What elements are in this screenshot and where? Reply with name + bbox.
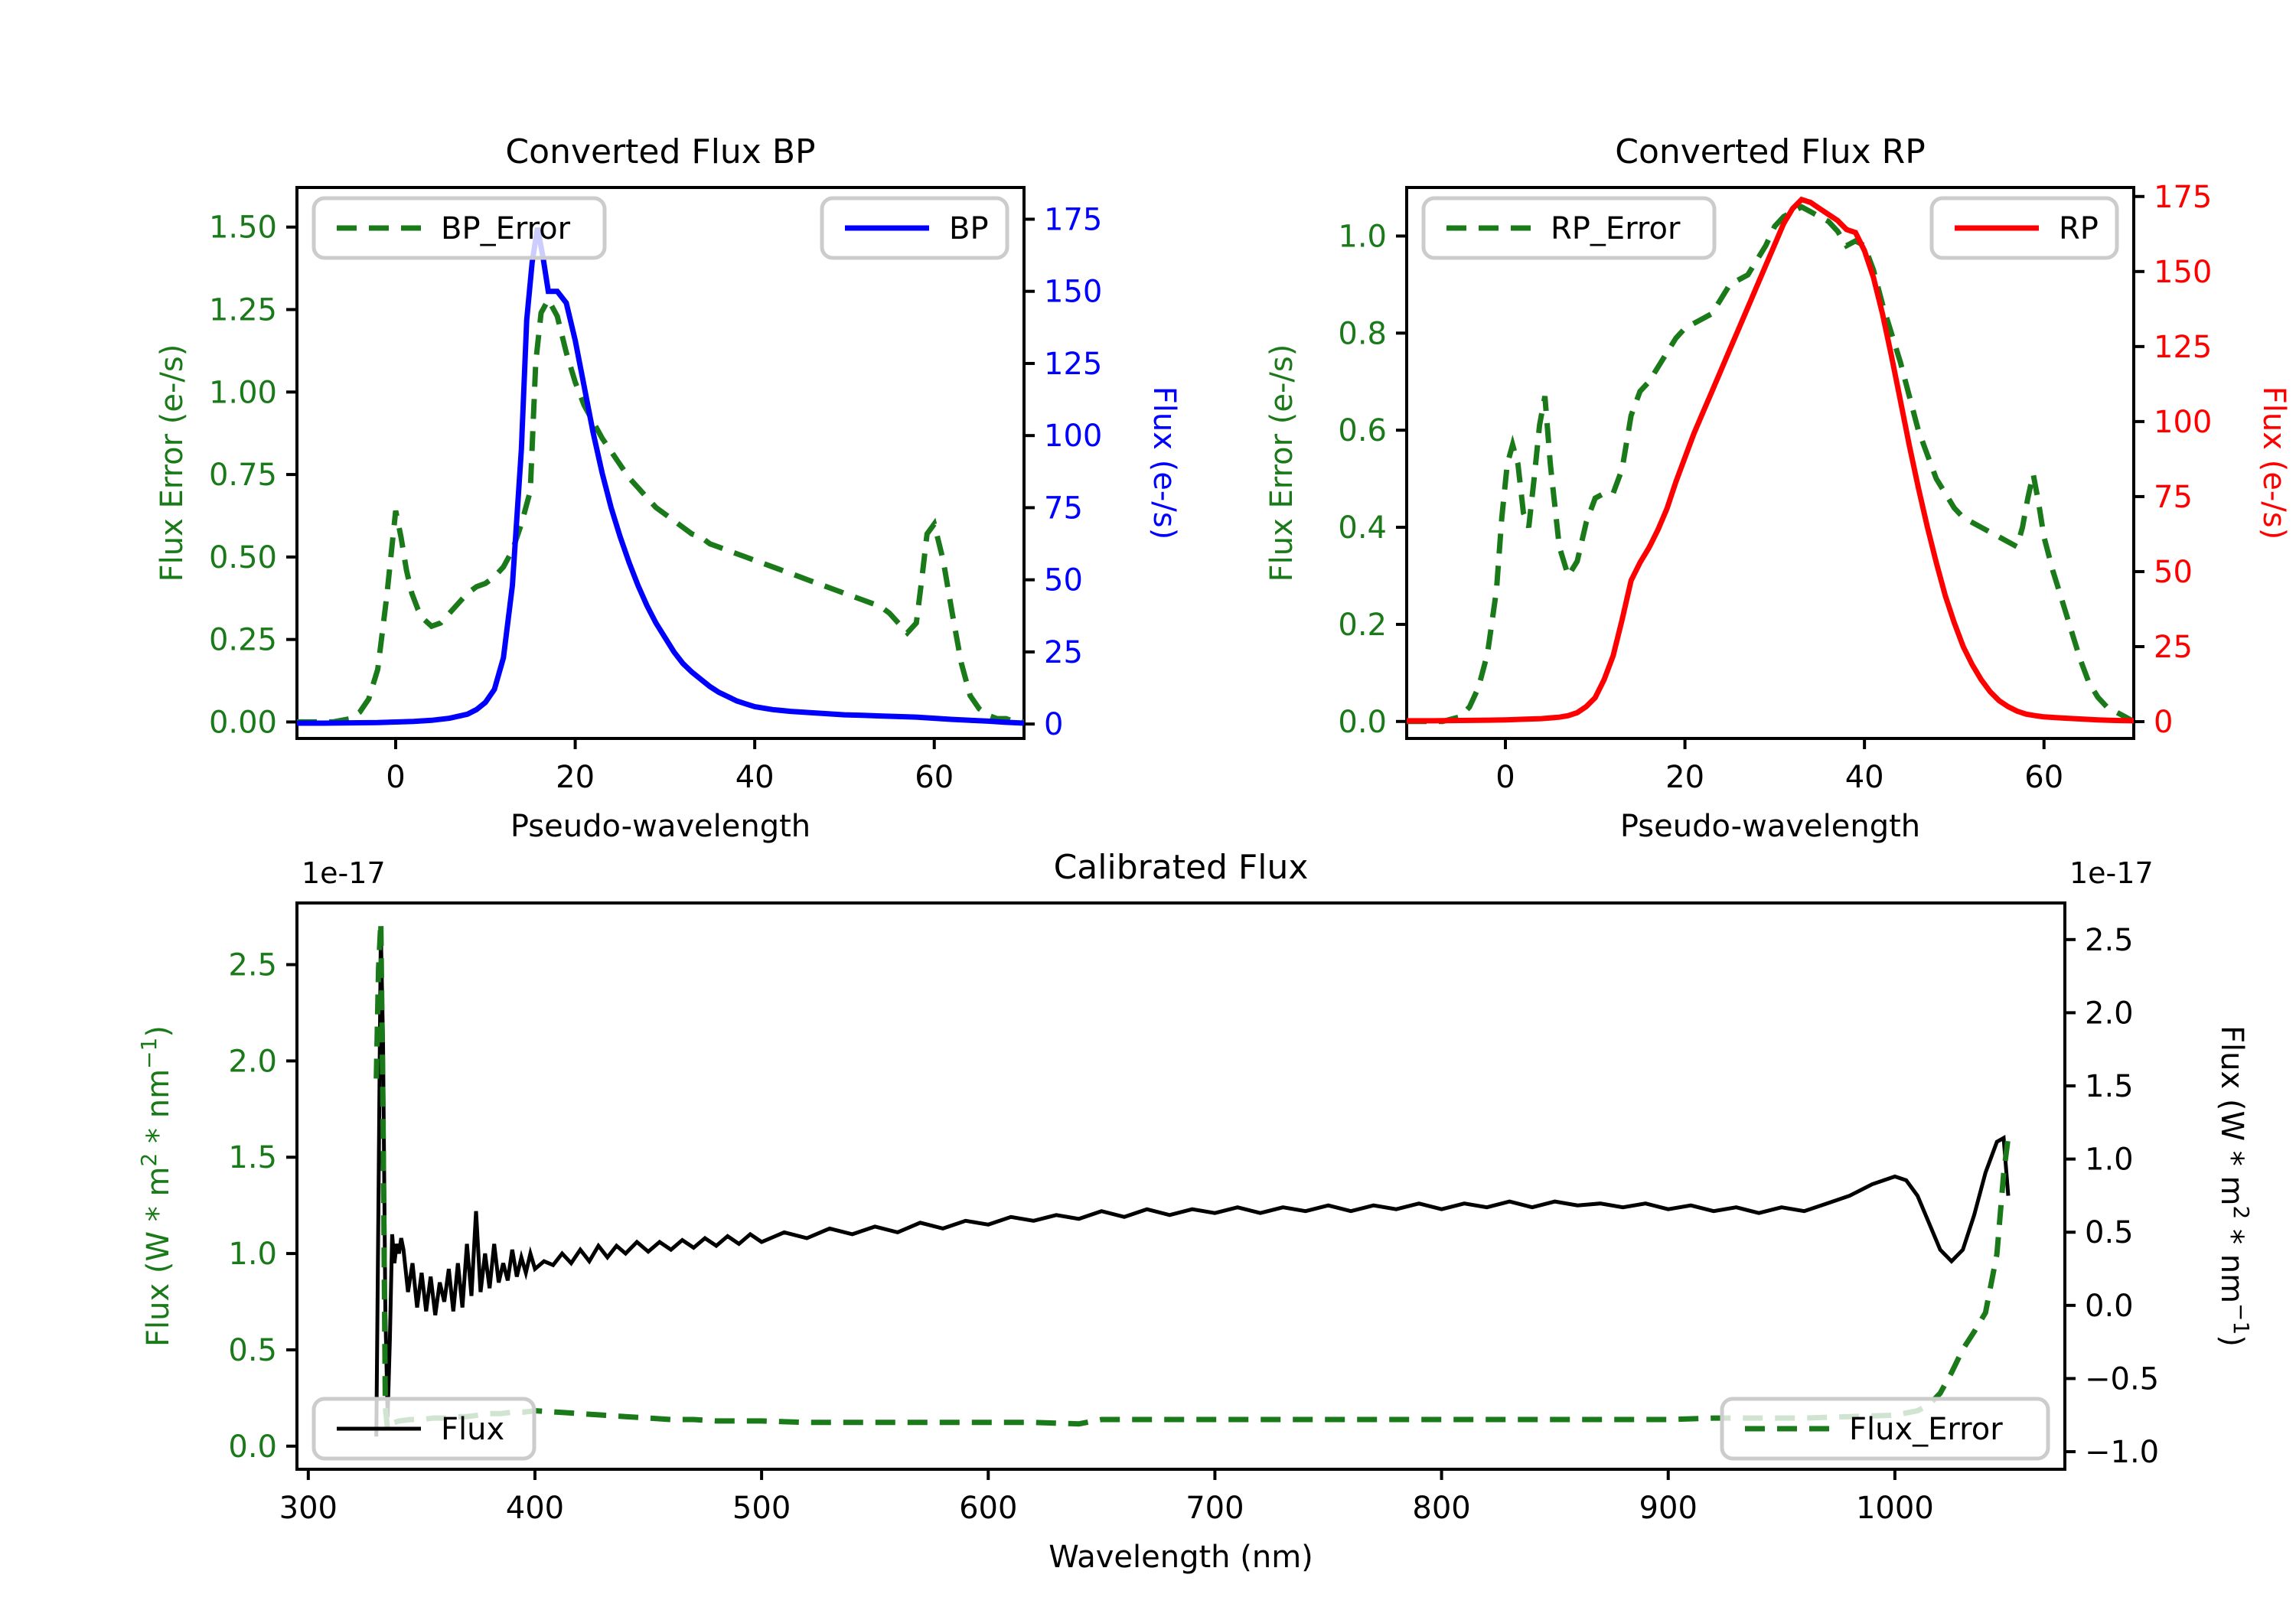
- series-line-Flux: [377, 930, 2008, 1436]
- y-right-tick-label: 25: [2154, 630, 2193, 665]
- y-right-tick-label: 50: [2154, 555, 2193, 590]
- y-left-tick-label: 1.0: [228, 1237, 277, 1272]
- y-left-tick-label: 1.50: [209, 210, 277, 246]
- y-left-tick-label: 0.50: [209, 540, 277, 575]
- y-right-tick-label: 175: [2154, 180, 2212, 215]
- y-right-tick-label: 0: [1044, 707, 1063, 742]
- y-left-tick-label: 2.5: [228, 948, 277, 983]
- x-tick-label: 20: [1665, 760, 1704, 795]
- y-right-tick-label: 125: [1044, 347, 1102, 382]
- x-tick-label: 400: [506, 1491, 564, 1526]
- y-left-axis-label-calibrated: Flux (W * m2 * nm−1): [136, 1025, 177, 1347]
- y-right-tick-label: 0: [2154, 705, 2173, 740]
- y-left-axis-label-bp: Flux Error (e-/s): [155, 344, 190, 582]
- legend-bp[interactable]: BP: [822, 198, 1007, 258]
- plot-frame-rp: [1407, 187, 2134, 738]
- y-right-tick-label: 2.0: [2085, 996, 2134, 1031]
- y-left-tick-label: 0.0: [1338, 705, 1387, 740]
- y-right-tick-label: −0.5: [2085, 1361, 2159, 1397]
- y-right-axis-label-bp: Flux (e-/s): [1146, 386, 1182, 539]
- y-right-tick-label: 150: [2154, 255, 2212, 290]
- series-line-BP: [297, 228, 1024, 723]
- series-line-Flux_Error: [377, 922, 2008, 1430]
- y-right-tick-label: 125: [2154, 330, 2212, 365]
- y-right-tick-label: 0.0: [2085, 1289, 2134, 1324]
- y-right-tick-label: 75: [2154, 480, 2193, 515]
- series-group-rp: [1407, 200, 2134, 722]
- x-tick-label: 300: [279, 1491, 338, 1526]
- series-line-RP_Error: [1407, 207, 2134, 721]
- y-left-tick-label: 0.00: [209, 705, 277, 740]
- series-line-RP: [1407, 200, 2134, 721]
- series-group-calibrated: [377, 922, 2008, 1436]
- y-left-tick-label: 1.0: [1338, 219, 1387, 254]
- x-tick-label: 40: [1845, 760, 1884, 795]
- y-left-axis-label-rp: Flux Error (e-/s): [1264, 344, 1300, 582]
- y-left-tick-label: 0.6: [1338, 413, 1387, 448]
- plot-frame-calibrated: [297, 903, 2065, 1469]
- y-right-tick-label: 2.5: [2085, 923, 2134, 958]
- y-right-tick-label: 25: [1044, 635, 1083, 670]
- y-left-tick-label: 1.00: [209, 375, 277, 410]
- x-tick-label: 60: [915, 760, 954, 795]
- x-tick-label: 700: [1186, 1491, 1244, 1526]
- legend-label: RP_Error: [1551, 211, 1681, 246]
- y-right-tick-label: 50: [1044, 563, 1083, 598]
- x-tick-label: 60: [2024, 760, 2063, 795]
- y-left-tick-label: 0.25: [209, 623, 277, 658]
- x-axis-label-bp: Pseudo-wavelength: [510, 809, 810, 844]
- axes-calibrated: Calibrated Flux3004005006007008009001000…: [136, 848, 2255, 1575]
- y-left-tick-label: 0.8: [1338, 316, 1387, 351]
- legend-label: RP: [2059, 211, 2099, 246]
- y-right-axis-label-rp: Flux (e-/s): [2256, 386, 2291, 539]
- x-tick-label: 600: [959, 1491, 1017, 1526]
- series-group-bp: [297, 228, 1024, 723]
- y-left-tick-label: 0.75: [209, 458, 277, 493]
- y-right-tick-label: 1.0: [2085, 1143, 2134, 1178]
- legend-label: BP_Error: [441, 211, 571, 246]
- figure-canvas: Converted Flux BP0204060Pseudo-wavelengt…: [0, 0, 2296, 1607]
- legend-rp-error[interactable]: RP_Error: [1424, 198, 1714, 258]
- x-tick-label: 0: [386, 760, 405, 795]
- x-axis-label-calibrated: Wavelength (nm): [1049, 1540, 1313, 1575]
- y-right-tick-label: 175: [1044, 202, 1102, 237]
- legend-label: BP: [949, 211, 989, 246]
- plot-frame-bp: [297, 187, 1024, 738]
- series-line-BP_Error: [297, 300, 1024, 722]
- y-left-tick-label: 0.2: [1338, 608, 1387, 643]
- legend-flux-error[interactable]: Flux_Error: [1722, 1399, 2048, 1459]
- y-right-tick-label: 75: [1044, 491, 1083, 526]
- x-tick-label: 900: [1639, 1491, 1698, 1526]
- offset-text-right: 1e-17: [2069, 856, 2154, 890]
- y-right-tick-label: 150: [1044, 275, 1102, 310]
- y-right-tick-label: −1.0: [2085, 1435, 2159, 1470]
- y-left-tick-label: 1.25: [209, 293, 277, 328]
- chart-title-rp: Converted Flux RP: [1615, 132, 1926, 171]
- y-left-tick-label: 1.5: [228, 1140, 277, 1175]
- y-left-tick-label: 0.0: [228, 1429, 277, 1465]
- legend-flux[interactable]: Flux: [314, 1399, 534, 1459]
- x-tick-label: 500: [732, 1491, 791, 1526]
- matplotlib-figure: Converted Flux BP0204060Pseudo-wavelengt…: [0, 0, 2296, 1607]
- chart-title-calibrated: Calibrated Flux: [1054, 848, 1309, 887]
- y-right-tick-label: 100: [2154, 405, 2212, 440]
- x-tick-label: 0: [1495, 760, 1515, 795]
- y-left-tick-label: 0.5: [228, 1333, 277, 1368]
- x-axis-label-rp: Pseudo-wavelength: [1620, 809, 1920, 844]
- x-tick-label: 20: [556, 760, 595, 795]
- y-left-tick-label: 2.0: [228, 1044, 277, 1079]
- y-right-tick-label: 1.5: [2085, 1069, 2134, 1104]
- y-left-tick-label: 0.4: [1338, 510, 1387, 546]
- y-right-tick-label: 100: [1044, 419, 1102, 454]
- chart-title-bp: Converted Flux BP: [505, 132, 815, 171]
- x-tick-label: 1000: [1856, 1491, 1934, 1526]
- y-right-axis-label-calibrated: Flux (W * m2 * nm−1): [2214, 1025, 2255, 1347]
- y-right-tick-label: 0.5: [2085, 1215, 2134, 1250]
- legend-rp[interactable]: RP: [1932, 198, 2117, 258]
- offset-text-left: 1e-17: [302, 856, 386, 890]
- legend-label: Flux: [441, 1412, 504, 1447]
- x-tick-label: 800: [1412, 1491, 1470, 1526]
- axes-bp: Converted Flux BP0204060Pseudo-wavelengt…: [155, 132, 1182, 844]
- legend-label: Flux_Error: [1849, 1412, 2003, 1447]
- legend-bp-error[interactable]: BP_Error: [314, 198, 605, 258]
- axes-rp: Converted Flux RP0204060Pseudo-wavelengt…: [1264, 132, 2291, 844]
- x-tick-label: 40: [735, 760, 775, 795]
